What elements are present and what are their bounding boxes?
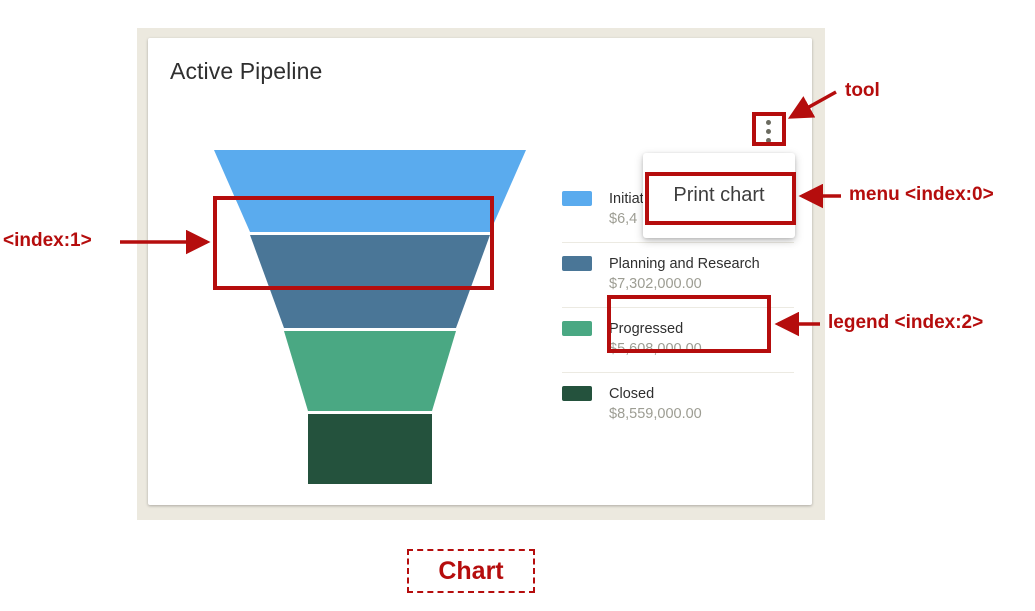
- funnel-segment-initiated[interactable]: [214, 150, 526, 232]
- annotation-label-menu: menu <index:0>: [849, 184, 994, 206]
- legend-label: Progressed: [609, 321, 683, 337]
- legend-value: $5,608,000.00: [609, 341, 702, 357]
- three-dots-vertical-icon: [766, 138, 771, 143]
- legend-value: $6,4: [609, 211, 637, 227]
- legend-value: $8,559,000.00: [609, 406, 702, 422]
- legend-swatch-progressed: [562, 321, 592, 336]
- annotation-label-segment: <index:1>: [3, 230, 92, 252]
- legend-label: Closed: [609, 386, 654, 402]
- funnel-segment-closed[interactable]: [308, 414, 432, 484]
- three-dots-vertical-icon: [766, 120, 771, 125]
- funnel-segment-progressed[interactable]: [284, 331, 456, 411]
- menu-item-print-chart[interactable]: Print chart: [673, 184, 764, 207]
- legend-item-closed[interactable]: Closed $8,559,000.00: [562, 373, 794, 437]
- legend-swatch-closed: [562, 386, 592, 401]
- legend-swatch-planning-and-research: [562, 256, 592, 271]
- legend-item-planning-and-research[interactable]: Planning and Research $7,302,000.00: [562, 243, 794, 308]
- legend-swatch-initiated: [562, 191, 592, 206]
- chart-card: Active Pipeline Initiated $6,4 Planning …: [148, 38, 812, 505]
- legend-value: $7,302,000.00: [609, 276, 702, 292]
- funnel-chart: [170, 104, 570, 484]
- legend-label: Planning and Research: [609, 256, 760, 272]
- page-title: Active Pipeline: [170, 58, 322, 85]
- context-menu[interactable]: Print chart: [643, 153, 795, 238]
- annotation-label-chart: Chart: [407, 549, 535, 593]
- annotation-label-tool: tool: [845, 80, 880, 102]
- funnel-segment-planning-and-research[interactable]: [250, 235, 490, 328]
- kebab-menu-button[interactable]: [756, 114, 780, 148]
- annotation-label-legend: legend <index:2>: [828, 312, 983, 334]
- legend-item-progressed[interactable]: Progressed $5,608,000.00: [562, 308, 794, 373]
- three-dots-vertical-icon: [766, 129, 771, 134]
